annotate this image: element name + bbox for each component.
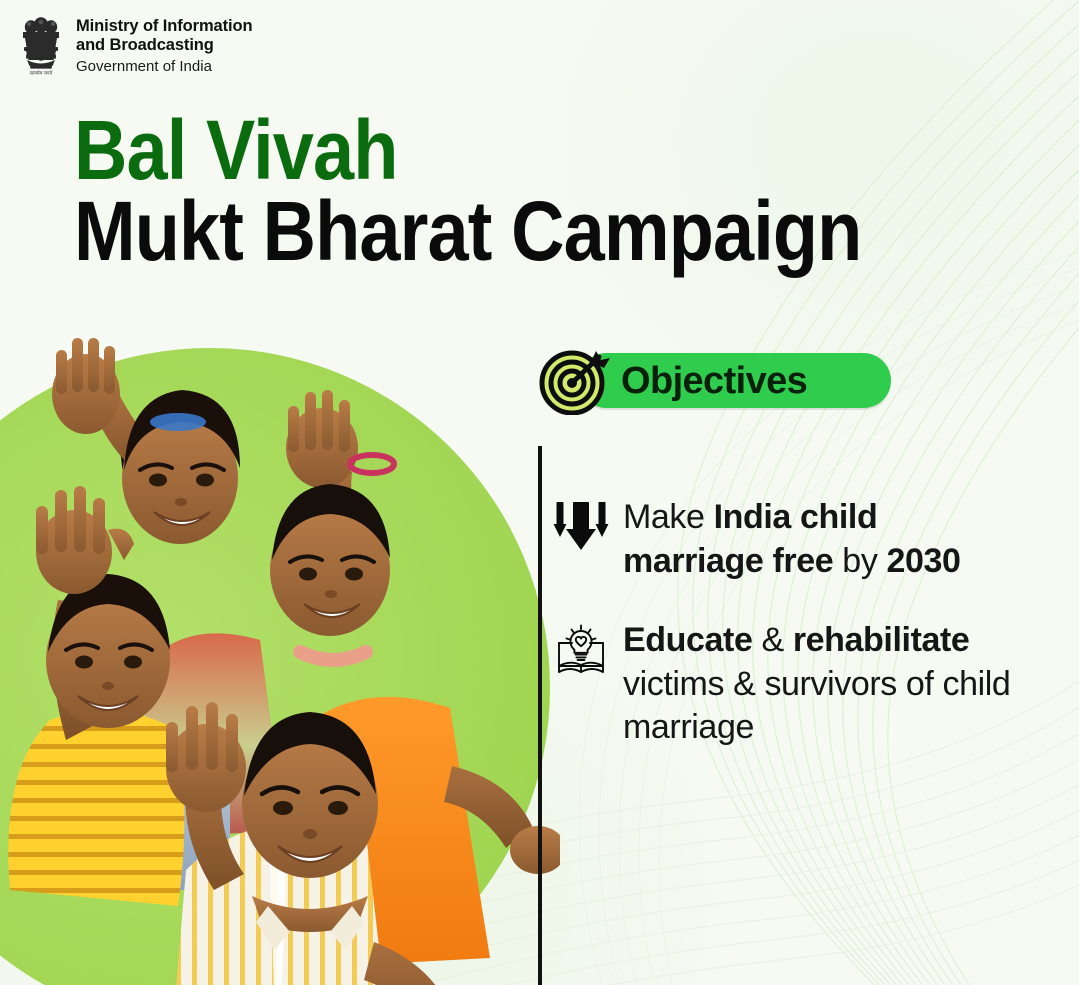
book-lightbulb-heart-icon bbox=[553, 621, 609, 677]
child-left-boy bbox=[8, 486, 184, 906]
objective-item-2: Educate & rehabilitate victims & survivo… bbox=[553, 619, 1053, 750]
objective-1-seg-0: Make bbox=[623, 498, 714, 536]
ministry-line-2: and Broadcasting bbox=[76, 36, 252, 55]
children-photo bbox=[0, 330, 560, 985]
ministry-line-1: Ministry of Information bbox=[76, 17, 252, 36]
objectives-badge: Objectives bbox=[539, 350, 807, 411]
svg-text:सत्यमेव जयते: सत्यमेव जयते bbox=[30, 70, 53, 76]
three-down-arrows-icon bbox=[553, 498, 609, 554]
objective-text-2: Educate & rehabilitate victims & survivo… bbox=[623, 619, 1023, 750]
title-line-mukt-bharat-campaign: Mukt Bharat Campaign bbox=[74, 193, 861, 270]
objective-text-1: Make India child marriage free by 2030 bbox=[623, 496, 1023, 583]
objective-item-1: Make India child marriage free by 2030 bbox=[553, 496, 1053, 583]
poster-canvas: सत्यमेव जयते Ministry of Information and… bbox=[0, 0, 1079, 985]
children-group-graphic bbox=[0, 330, 560, 985]
objectives-badge-label: Objectives bbox=[621, 362, 807, 400]
ministry-header: सत्यमेव जयते Ministry of Information and… bbox=[18, 14, 252, 78]
objective-1-seg-2: by bbox=[833, 542, 886, 580]
target-bullseye-icon bbox=[539, 347, 611, 415]
ministry-title-text: Ministry of Information and Broadcasting… bbox=[76, 14, 252, 76]
objectives-list: Make India child marriage free by 2030 bbox=[553, 496, 1053, 750]
vertical-divider bbox=[538, 446, 542, 985]
government-of-india-line: Government of India bbox=[76, 58, 252, 76]
children-illustration bbox=[0, 330, 560, 985]
campaign-title: Bal Vivah Mukt Bharat Campaign bbox=[74, 112, 969, 271]
objective-2-seg-2: rehabilitate bbox=[793, 621, 970, 659]
objective-2-seg-1: & bbox=[752, 621, 792, 659]
objective-1-seg-3: 2030 bbox=[886, 542, 960, 580]
title-line-bal-vivah: Bal Vivah bbox=[74, 112, 861, 189]
objective-2-seg-0: Educate bbox=[623, 621, 752, 659]
ashoka-lion-capital-emblem-icon: सत्यमेव जयते bbox=[18, 16, 64, 78]
objective-2-seg-3: victims & survivors of child marriage bbox=[623, 665, 1010, 747]
